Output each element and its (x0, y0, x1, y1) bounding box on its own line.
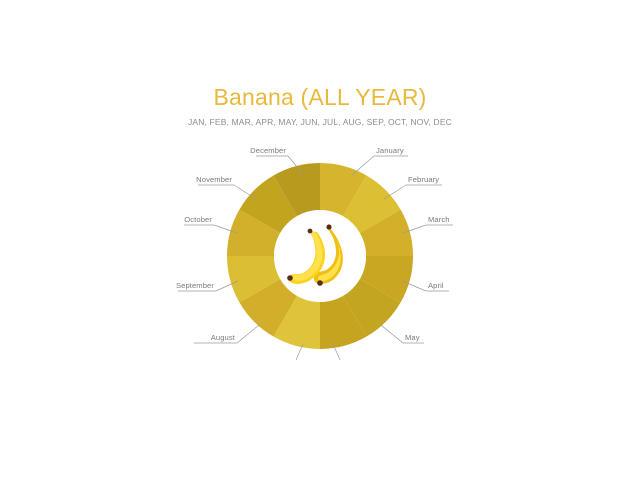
banana-back-stem (317, 280, 323, 286)
month-label-august[interactable]: August (211, 333, 236, 342)
month-label-may[interactable]: May (405, 333, 420, 342)
month-label-april[interactable]: April (428, 281, 444, 290)
leader-line-january (352, 156, 374, 175)
month-label-february[interactable]: February (408, 175, 439, 184)
banana-front-stem (287, 275, 293, 281)
month-label-october[interactable]: October (184, 215, 212, 224)
month-label-january[interactable]: January (376, 146, 404, 155)
leader-line-august (237, 325, 259, 343)
donut-chart: JanuaryFebruaryMarchAprilMayJuneJulyAugu… (0, 0, 640, 480)
month-label-september[interactable]: September (176, 281, 214, 290)
month-label-march[interactable]: March (428, 215, 450, 224)
page-root: Banana (ALL YEAR) JAN, FEB, MAR, APR, MA… (0, 0, 640, 480)
banana-front-tip (308, 229, 313, 234)
donut-chart-svg: JanuaryFebruaryMarchAprilMayJuneJulyAugu… (0, 0, 640, 480)
leader-line-may (381, 325, 403, 343)
month-label-november[interactable]: November (196, 175, 232, 184)
month-label-december[interactable]: December (250, 146, 286, 155)
banana-back-tip (326, 224, 331, 229)
